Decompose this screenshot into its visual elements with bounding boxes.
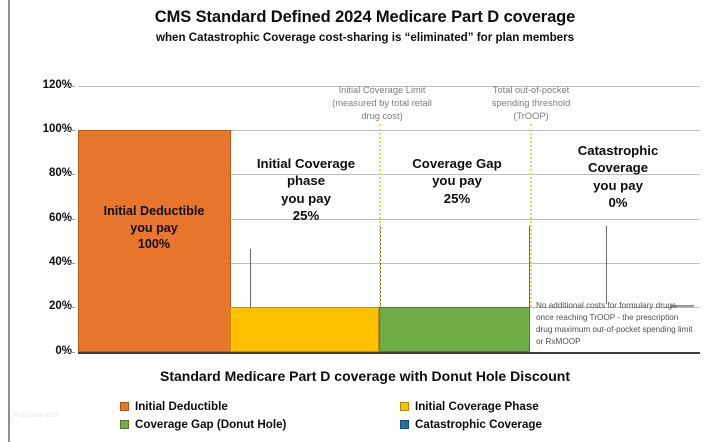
bar-label-initial-deductible: Initial Deductible you pay 100% bbox=[80, 203, 228, 253]
x-axis-title: Standard Medicare Part D coverage with D… bbox=[30, 368, 700, 384]
bar-label-initial-coverage-name: Initial Coverage bbox=[232, 155, 380, 172]
bar-label-coverage-gap-name: Coverage Gap bbox=[382, 155, 532, 172]
watermark: © Q1Group 2023 bbox=[14, 413, 58, 419]
y-tick-label-0: 0% bbox=[26, 345, 72, 357]
bar-label-initial-coverage-pay: you pay bbox=[232, 190, 380, 207]
y-tick-mark-60 bbox=[66, 219, 75, 220]
bar-label-initial-coverage-pct: 25% bbox=[232, 207, 380, 224]
chart-screenshot: CMS Standard Defined 2024 Medicare Part … bbox=[0, 0, 720, 442]
bar-initial-coverage-phase[interactable] bbox=[230, 307, 379, 352]
y-tick-mark-40 bbox=[66, 263, 75, 264]
y-tick-label-120: 120% bbox=[26, 79, 72, 91]
y-tick-label-80: 80% bbox=[26, 167, 72, 179]
y-tick-label-100: 100% bbox=[26, 123, 72, 135]
legend-item-initial-coverage-phase[interactable]: Initial Coverage Phase bbox=[400, 400, 680, 413]
bar-label-catastrophic-pct: 0% bbox=[534, 194, 702, 211]
bar-label-coverage-gap-pct: 25% bbox=[382, 190, 532, 207]
bar-label-initial-deductible-name: Initial Deductible bbox=[80, 203, 228, 220]
y-tick-mark-0 bbox=[66, 352, 75, 353]
bar-label-coverage-gap-pay: you pay bbox=[382, 172, 532, 189]
left-frame-border bbox=[8, 0, 10, 442]
chart-subtitle: when Catastrophic Coverage cost-sharing … bbox=[30, 31, 700, 44]
bar-label-catastrophic-name: Catastrophic bbox=[534, 142, 702, 159]
y-tick-label-20: 20% bbox=[26, 300, 72, 312]
legend-swatch-icon-initial-coverage-phase bbox=[400, 402, 409, 411]
bar-coverage-gap[interactable] bbox=[379, 307, 530, 352]
leader-line-catastrophic bbox=[606, 226, 607, 304]
dashed-line-troop bbox=[530, 124, 532, 307]
legend-label-initial-coverage-phase: Initial Coverage Phase bbox=[415, 400, 539, 413]
bar-label-catastrophic-pay: you pay bbox=[534, 177, 702, 194]
legend-swatch-icon-coverage-gap bbox=[120, 420, 129, 429]
leader-line-initial-coverage bbox=[250, 249, 251, 307]
bar-label-catastrophic-name2: Coverage bbox=[534, 159, 702, 176]
legend: Initial Deductible Initial Coverage Phas… bbox=[120, 400, 680, 431]
legend-item-catastrophic-coverage[interactable]: Catastrophic Coverage bbox=[400, 418, 680, 431]
annotation-icl-line3: drug cost) bbox=[312, 110, 452, 123]
annotation-troop: Total out-of-pocket spending threshold (… bbox=[466, 84, 596, 124]
y-tick-label-60: 60% bbox=[26, 212, 72, 224]
bar-label-coverage-gap: Coverage Gap you pay 25% bbox=[382, 155, 532, 207]
y-tick-mark-120 bbox=[66, 86, 75, 87]
annotation-initial-coverage-limit: Initial Coverage Limit (measured by tota… bbox=[312, 84, 452, 124]
chart-title: CMS Standard Defined 2024 Medicare Part … bbox=[30, 8, 700, 27]
y-tick-mark-20 bbox=[66, 307, 75, 308]
annotation-icl-line1: Initial Coverage Limit bbox=[312, 84, 452, 97]
y-tick-label-40: 40% bbox=[26, 256, 72, 268]
y-tick-mark-80 bbox=[66, 174, 75, 175]
legend-swatch-icon-initial-deductible bbox=[120, 402, 129, 411]
x-axis-baseline bbox=[78, 352, 700, 354]
legend-swatch-icon-catastrophic-coverage bbox=[400, 420, 409, 429]
legend-item-initial-deductible[interactable]: Initial Deductible bbox=[120, 400, 400, 413]
bar-label-initial-deductible-pay: you pay bbox=[80, 220, 228, 237]
legend-label-coverage-gap: Coverage Gap (Donut Hole) bbox=[135, 418, 286, 431]
bar-label-initial-deductible-pct: 100% bbox=[80, 236, 228, 253]
bar-label-initial-coverage-phase: Initial Coverage phase you pay 25% bbox=[232, 155, 380, 225]
footnote-troop: No additional costs for formulary drugs … bbox=[536, 300, 694, 348]
annotation-icl-line2: (measured by total retail bbox=[312, 97, 452, 110]
annotation-troop-line2: spending threshold bbox=[466, 97, 596, 110]
legend-label-catastrophic-coverage: Catastrophic Coverage bbox=[415, 418, 542, 431]
annotation-troop-line1: Total out-of-pocket bbox=[466, 84, 596, 97]
legend-item-coverage-gap[interactable]: Coverage Gap (Donut Hole) bbox=[120, 418, 400, 431]
bar-label-catastrophic-coverage: Catastrophic Coverage you pay 0% bbox=[534, 142, 702, 212]
annotation-troop-line3: (TrOOP) bbox=[466, 110, 596, 123]
y-tick-mark-100 bbox=[66, 130, 75, 131]
bar-label-initial-coverage-name2: phase bbox=[232, 172, 380, 189]
legend-label-initial-deductible: Initial Deductible bbox=[135, 400, 228, 413]
